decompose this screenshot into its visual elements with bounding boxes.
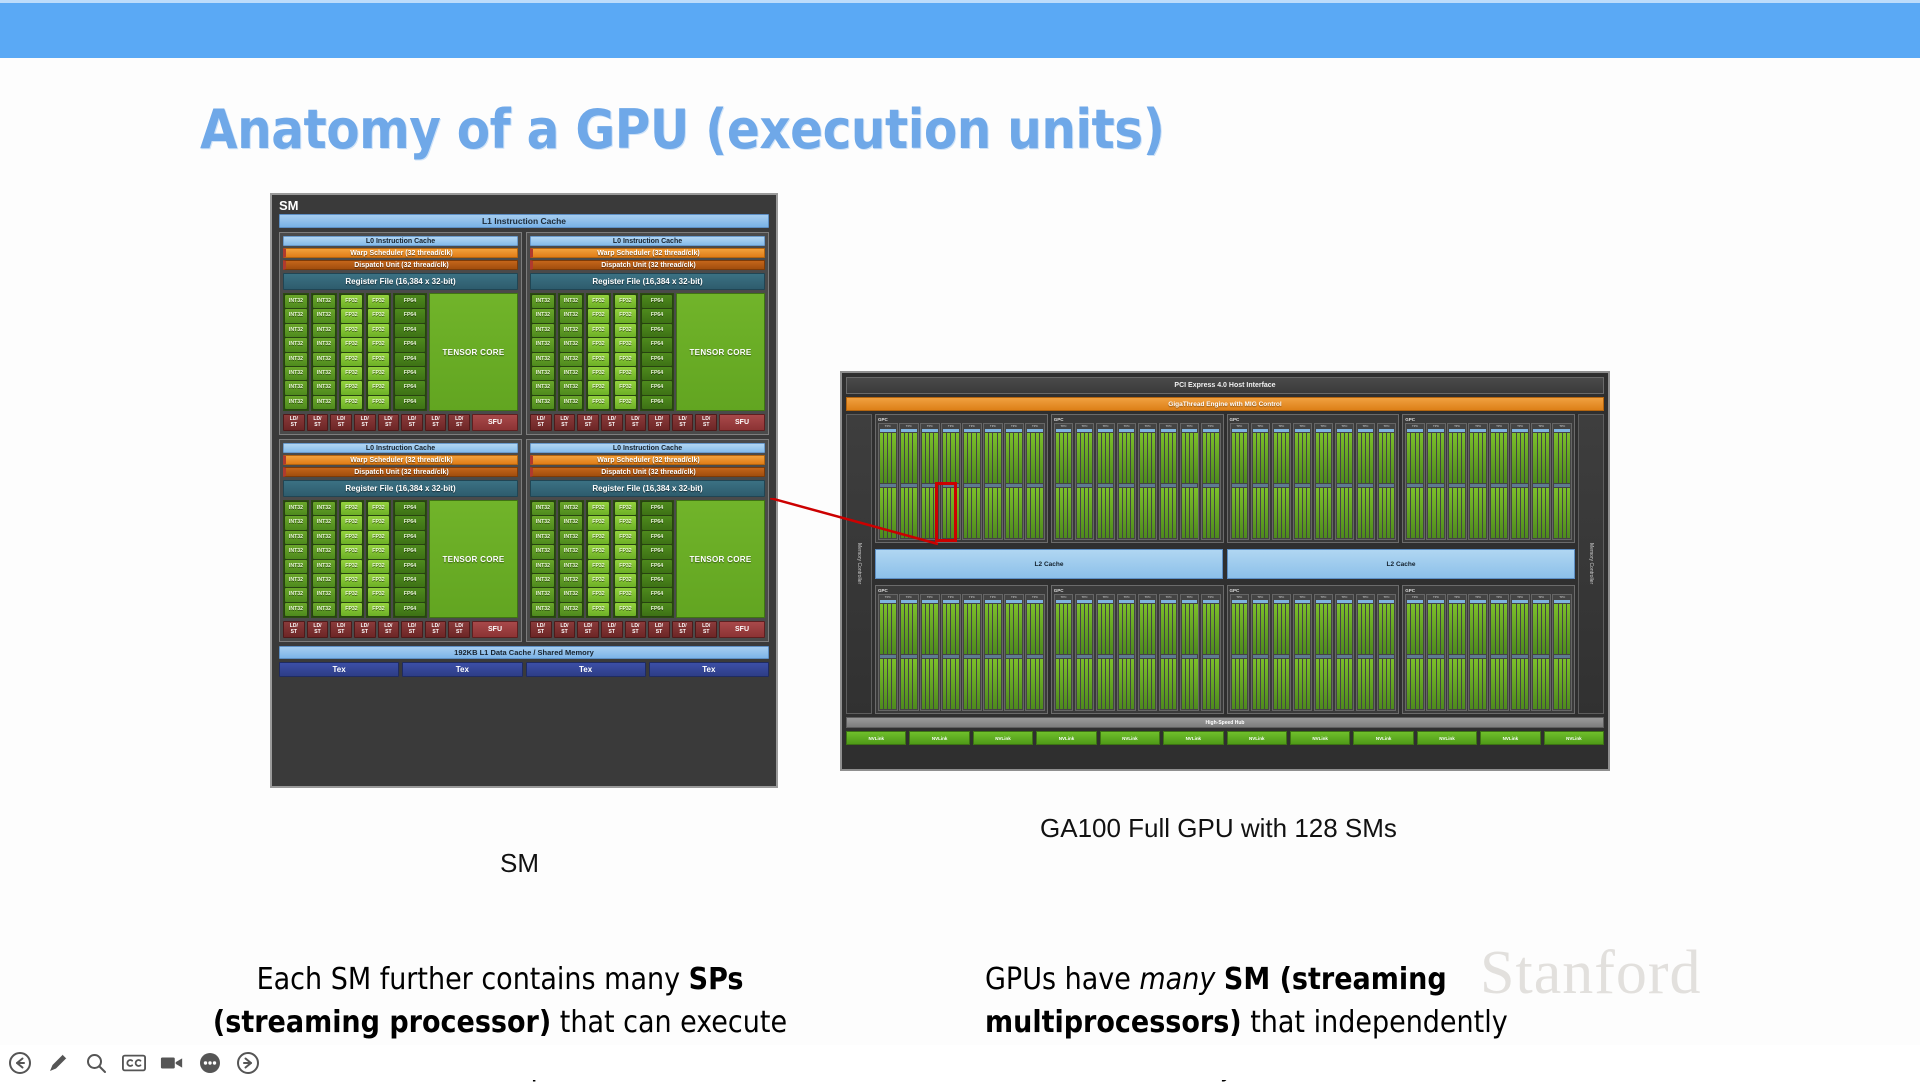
high-speed-hub-bar: High-Speed Hub <box>846 717 1604 728</box>
core-cell: FP32 <box>588 309 609 322</box>
core-cell: INT32 <box>560 338 582 351</box>
sm-separator <box>1379 484 1395 487</box>
core-cell: FP32 <box>615 367 636 380</box>
core-cell: INT32 <box>313 295 335 308</box>
tpc-divider <box>1512 429 1528 432</box>
core-cell: FP64 <box>642 531 672 544</box>
ldst-unit: LD/ST <box>307 621 329 638</box>
sm-separator <box>1161 484 1177 487</box>
sm-unit-group <box>1077 659 1093 709</box>
sm-separator <box>1512 655 1528 658</box>
tpc-label: TPC <box>1533 596 1549 599</box>
core-cell: FP64 <box>642 574 672 587</box>
sm-unit-group <box>1232 604 1248 654</box>
l2-cache-band: L2 Cache L2 Cache <box>875 549 1575 579</box>
tpc-block: TPC <box>1159 423 1179 540</box>
fp32-column: FP32FP32FP32FP32FP32FP32FP32FP32 <box>366 293 391 411</box>
tpc-label: TPC <box>1428 425 1444 428</box>
core-cell: FP64 <box>642 560 672 573</box>
tpc-row: TPCTPCTPCTPCTPCTPCTPCTPC <box>1054 423 1221 540</box>
core-cell: FP32 <box>588 531 609 544</box>
load-store-row: LD/STLD/STLD/STLD/STLD/STLD/STLD/STLD/ST… <box>530 621 765 638</box>
core-cell: FP32 <box>588 502 609 515</box>
tpc-block: TPC <box>1054 594 1074 711</box>
sm-unit-group <box>1098 488 1114 538</box>
sm-unit-group <box>1098 604 1114 654</box>
dispatch-unit-bar: Dispatch Unit (32 thread/clk) <box>283 260 518 270</box>
sm-unit-group <box>1337 433 1353 483</box>
dispatch-unit-bar: Dispatch Unit (32 thread/clk) <box>283 467 518 477</box>
sm-unit-group <box>1182 433 1198 483</box>
tpc-block: TPC <box>1293 423 1313 540</box>
sm-separator <box>901 484 917 487</box>
nvlink-block: NVLink <box>1353 731 1413 745</box>
core-cell: INT32 <box>560 545 582 558</box>
tpc-divider <box>1449 429 1465 432</box>
tpc-divider <box>1379 600 1395 603</box>
core-cell: FP32 <box>341 531 362 544</box>
tpc-divider <box>1161 600 1177 603</box>
core-cell: FP32 <box>615 338 636 351</box>
tpc-label: TPC <box>1119 596 1135 599</box>
tpc-divider <box>1358 429 1374 432</box>
sm-separator <box>1512 484 1528 487</box>
sm-unit-group <box>943 604 959 654</box>
tex-unit: Tex <box>526 662 646 677</box>
core-cell: INT32 <box>285 338 307 351</box>
core-cell: FP32 <box>341 353 362 366</box>
tpc-block: TPC <box>1405 423 1425 540</box>
closed-caption-icon[interactable] <box>122 1051 146 1075</box>
tpc-divider <box>922 600 938 603</box>
sm-unit-group <box>1006 604 1022 654</box>
sm-separator <box>1119 655 1135 658</box>
core-cell: FP32 <box>368 545 389 558</box>
sm-unit-group <box>1203 659 1219 709</box>
core-cell: INT32 <box>532 502 554 515</box>
tpc-row: TPCTPCTPCTPCTPCTPCTPCTPC <box>1230 594 1397 711</box>
core-cell: FP64 <box>642 381 672 394</box>
sfu-unit: SFU <box>472 414 518 431</box>
ldst-unit: LD/ST <box>672 414 694 431</box>
core-cell: INT32 <box>560 560 582 573</box>
sm-unit-group <box>1358 604 1374 654</box>
pen-icon[interactable] <box>46 1051 70 1075</box>
sm-separator <box>1554 655 1570 658</box>
sm-unit-group <box>901 488 917 538</box>
tpc-block: TPC <box>1025 594 1045 711</box>
tpc-block: TPC <box>1510 423 1530 540</box>
core-cell: INT32 <box>285 516 307 529</box>
tpc-label: TPC <box>1203 596 1219 599</box>
core-cell: FP64 <box>395 338 425 351</box>
sm-separator <box>1027 655 1043 658</box>
sm-separator <box>1316 484 1332 487</box>
sm-unit-group <box>1098 433 1114 483</box>
sm-unit-group <box>1232 433 1248 483</box>
sfu-unit: SFU <box>719 414 765 431</box>
sm-separator <box>1077 484 1093 487</box>
nvlink-block: NVLink <box>973 731 1033 745</box>
nvlink-block: NVLink <box>1417 731 1477 745</box>
tpc-row: TPCTPCTPCTPCTPCTPCTPCTPC <box>1405 423 1572 540</box>
sm-separator <box>1337 484 1353 487</box>
core-cell: INT32 <box>560 353 582 366</box>
tpc-divider <box>1554 429 1570 432</box>
core-cell: FP64 <box>642 588 672 601</box>
core-cell: FP32 <box>341 502 362 515</box>
tpc-label: TPC <box>1203 425 1219 428</box>
sm-unit-group <box>1274 488 1290 538</box>
ldst-unit: LD/ST <box>401 621 423 638</box>
core-cell: FP64 <box>642 309 672 322</box>
tpc-label: TPC <box>1337 425 1353 428</box>
sm-separator <box>1337 655 1353 658</box>
sm-caption: SM <box>500 848 539 879</box>
ldst-unit: LD/ST <box>448 414 470 431</box>
core-cell: FP32 <box>341 603 362 616</box>
sm-separator <box>1379 655 1395 658</box>
sm-unit-group <box>1533 659 1549 709</box>
tpc-label: TPC <box>1056 596 1072 599</box>
sm-unit-group <box>1203 604 1219 654</box>
tpc-divider <box>1119 429 1135 432</box>
sm-separator <box>964 655 980 658</box>
ldst-unit: LD/ST <box>330 621 352 638</box>
sm-unit-group <box>1006 433 1022 483</box>
gpc-label: GPC <box>1230 417 1397 422</box>
sm-unit-group <box>1161 488 1177 538</box>
sm-unit-group <box>1470 604 1486 654</box>
tpc-block: TPC <box>1096 594 1116 711</box>
ldst-unit: LD/ST <box>448 621 470 638</box>
core-cell: FP32 <box>341 309 362 322</box>
fp32-column: FP32FP32FP32FP32FP32FP32FP32FP32 <box>613 293 638 411</box>
ldst-unit: LD/ST <box>354 414 376 431</box>
int32-column: INT32INT32INT32INT32INT32INT32INT32INT32 <box>558 500 584 618</box>
core-cell: FP32 <box>368 309 389 322</box>
sm-unit-group <box>1253 659 1269 709</box>
core-cell: FP64 <box>395 560 425 573</box>
core-cell: FP32 <box>588 603 609 616</box>
tpc-label: TPC <box>1232 425 1248 428</box>
memory-controller-right: Memory Controller <box>1578 414 1604 714</box>
sm-unit-group <box>1470 659 1486 709</box>
tpc-divider <box>922 429 938 432</box>
tpc-block: TPC <box>1251 594 1271 711</box>
tex-unit: Tex <box>279 662 399 677</box>
tpc-divider <box>1098 429 1114 432</box>
ldst-unit: LD/ST <box>378 621 400 638</box>
sm-separator <box>1274 484 1290 487</box>
sm-unit-group <box>922 433 938 483</box>
sm-unit-group <box>1182 488 1198 538</box>
sm-unit-group <box>1428 433 1444 483</box>
sm-unit-group <box>1119 659 1135 709</box>
fp32-column: FP32FP32FP32FP32FP32FP32FP32FP32 <box>339 293 364 411</box>
sm-unit-group <box>901 433 917 483</box>
tpc-label: TPC <box>1274 425 1290 428</box>
core-cell: INT32 <box>313 381 335 394</box>
core-cell: INT32 <box>313 502 335 515</box>
core-cell: FP64 <box>642 353 672 366</box>
text-segment: many <box>1139 962 1215 997</box>
core-cell: FP32 <box>368 588 389 601</box>
forward-icon[interactable] <box>236 1051 260 1075</box>
sm-unit-group <box>1119 433 1135 483</box>
tpc-block: TPC <box>1272 594 1292 711</box>
sm-separator <box>1056 655 1072 658</box>
sm-separator <box>1491 484 1507 487</box>
nvlink-block: NVLink <box>1544 731 1604 745</box>
sm-unit-group <box>985 604 1001 654</box>
core-cell: FP64 <box>395 502 425 515</box>
ldst-unit: LD/ST <box>554 414 576 431</box>
fp32-column: FP32FP32FP32FP32FP32FP32FP32FP32 <box>586 500 611 618</box>
core-cell: INT32 <box>285 502 307 515</box>
core-cell: FP32 <box>341 516 362 529</box>
sm-unit-group <box>901 604 917 654</box>
text-segment: Each SM further contains many <box>257 962 689 997</box>
sm-unit-group <box>880 659 896 709</box>
tpc-label: TPC <box>1274 596 1290 599</box>
tpc-label: TPC <box>1027 596 1043 599</box>
highlighted-sm-box <box>935 482 957 542</box>
sm-unit-group <box>1491 488 1507 538</box>
tpc-divider <box>1407 429 1423 432</box>
sm-unit-group <box>1512 659 1528 709</box>
ldst-unit: LD/ST <box>554 621 576 638</box>
tpc-label: TPC <box>1407 425 1423 428</box>
tpc-block: TPC <box>1075 594 1095 711</box>
tpc-divider <box>1554 600 1570 603</box>
page-title: Anatomy of a GPU (execution units) <box>200 98 1164 161</box>
core-cell: FP32 <box>615 588 636 601</box>
core-cell: INT32 <box>532 588 554 601</box>
ldst-unit: LD/ST <box>425 414 447 431</box>
tpc-block: TPC <box>1004 423 1024 540</box>
sm-unit-group <box>880 433 896 483</box>
sm-unit-group <box>1077 433 1093 483</box>
core-cell: INT32 <box>313 560 335 573</box>
gpc-label: GPC <box>1054 588 1221 593</box>
tpc-label: TPC <box>1512 596 1528 599</box>
sm-processing-block: L0 Instruction CacheWarp Scheduler (32 t… <box>526 232 769 435</box>
int32-column: INT32INT32INT32INT32INT32INT32INT32INT32 <box>283 293 309 411</box>
tpc-block: TPC <box>983 423 1003 540</box>
sm-unit-group <box>1554 433 1570 483</box>
tpc-label: TPC <box>1379 425 1395 428</box>
sm-unit-group <box>1512 604 1528 654</box>
sm-unit-group <box>1232 659 1248 709</box>
sm-unit-group <box>1316 433 1332 483</box>
sm-separator <box>1119 484 1135 487</box>
sm-unit-group <box>1203 433 1219 483</box>
l0-instruction-cache-bar: L0 Instruction Cache <box>283 443 518 453</box>
nvlink-block: NVLink <box>1227 731 1287 745</box>
core-cell: INT32 <box>313 324 335 337</box>
sm-quadrant-row: L0 Instruction CacheWarp Scheduler (32 t… <box>279 232 769 435</box>
tpc-block: TPC <box>878 423 898 540</box>
gpc-block: GPCTPCTPCTPCTPCTPCTPCTPCTPC <box>875 414 1048 543</box>
core-cell: INT32 <box>285 574 307 587</box>
tpc-label: TPC <box>880 596 896 599</box>
core-cell: FP32 <box>588 545 609 558</box>
tpc-divider <box>1119 600 1135 603</box>
nvlink-block: NVLink <box>909 731 969 745</box>
core-cell: FP32 <box>368 502 389 515</box>
core-cell: INT32 <box>285 603 307 616</box>
sm-unit-group <box>943 659 959 709</box>
register-file-bar: Register File (16,384 x 32-bit) <box>530 480 765 497</box>
core-cell: FP32 <box>615 396 636 409</box>
tpc-label: TPC <box>1077 425 1093 428</box>
tpc-divider <box>943 429 959 432</box>
core-cell: INT32 <box>532 574 554 587</box>
tpc-block: TPC <box>1293 594 1313 711</box>
tpc-label: TPC <box>1140 596 1156 599</box>
back-icon[interactable] <box>8 1051 32 1075</box>
fp64-column: FP64FP64FP64FP64FP64FP64FP64FP64 <box>393 500 427 618</box>
core-cell: FP32 <box>368 338 389 351</box>
core-cell: FP64 <box>395 295 425 308</box>
int32-column: INT32INT32INT32INT32INT32INT32INT32INT32 <box>311 500 337 618</box>
gpc-label: GPC <box>1405 588 1572 593</box>
gpu-caption: GA100 Full GPU with 128 SMs <box>1040 813 1397 844</box>
sm-separator <box>1056 484 1072 487</box>
sm-separator <box>1449 484 1465 487</box>
core-cell: FP32 <box>368 603 389 616</box>
core-cell: INT32 <box>313 353 335 366</box>
core-cell: INT32 <box>313 588 335 601</box>
nvlink-block: NVLink <box>1036 731 1096 745</box>
core-cell: INT32 <box>532 295 554 308</box>
core-cell: FP32 <box>341 396 362 409</box>
ldst-unit: LD/ST <box>601 414 623 431</box>
player-toolbar <box>0 1045 1920 1080</box>
tpc-block: TPC <box>1138 594 1158 711</box>
tpc-divider <box>1491 600 1507 603</box>
register-file-bar: Register File (16,384 x 32-bit) <box>283 273 518 290</box>
tpc-label: TPC <box>1512 425 1528 428</box>
l1-data-cache-bar: 192KB L1 Data Cache / Shared Memory <box>279 646 769 659</box>
sm-unit-group <box>1056 433 1072 483</box>
sm-separator <box>1182 655 1198 658</box>
more-icon[interactable] <box>198 1051 222 1075</box>
l0-instruction-cache-bar: L0 Instruction Cache <box>530 236 765 246</box>
tpc-divider <box>1337 600 1353 603</box>
tpc-label: TPC <box>1098 596 1114 599</box>
sm-unit-group <box>1274 604 1290 654</box>
sm-separator <box>1533 484 1549 487</box>
tpc-divider <box>985 429 1001 432</box>
ldst-unit: LD/ST <box>283 621 305 638</box>
tpc-divider <box>1512 600 1528 603</box>
sm-unit-group <box>1554 604 1570 654</box>
tpc-divider <box>964 429 980 432</box>
tpc-block: TPC <box>1377 594 1397 711</box>
tpc-block: TPC <box>962 594 982 711</box>
sm-separator <box>1428 484 1444 487</box>
core-cell: FP32 <box>341 367 362 380</box>
tpc-block: TPC <box>1075 423 1095 540</box>
tpc-label: TPC <box>1006 596 1022 599</box>
tpc-block: TPC <box>1201 594 1221 711</box>
core-cell: FP64 <box>395 545 425 558</box>
gpc-label: GPC <box>1054 417 1221 422</box>
tpc-block: TPC <box>899 594 919 711</box>
ldst-unit: LD/ST <box>625 414 647 431</box>
sm-unit-group <box>985 433 1001 483</box>
video-icon[interactable] <box>160 1051 184 1075</box>
sm-diagram-label: SM <box>275 198 773 214</box>
sm-unit-group <box>1119 604 1135 654</box>
sm-separator <box>1533 655 1549 658</box>
sm-unit-group <box>1056 659 1072 709</box>
tpc-label: TPC <box>1470 596 1486 599</box>
sm-separator <box>1407 484 1423 487</box>
tpc-block: TPC <box>941 594 961 711</box>
tpc-block: TPC <box>1159 594 1179 711</box>
sm-unit-group <box>1232 488 1248 538</box>
gpc-label: GPC <box>1230 588 1397 593</box>
search-icon[interactable] <box>84 1051 108 1075</box>
core-cell: FP32 <box>615 295 636 308</box>
tpc-label: TPC <box>1295 596 1311 599</box>
sm-unit-group <box>1006 488 1022 538</box>
tpc-block: TPC <box>962 423 982 540</box>
tpc-divider <box>1274 600 1290 603</box>
tpc-divider <box>1533 600 1549 603</box>
core-cell: INT32 <box>285 295 307 308</box>
ldst-unit: LD/ST <box>695 414 717 431</box>
core-cell: FP64 <box>642 295 672 308</box>
core-array: INT32INT32INT32INT32INT32INT32INT32INT32… <box>283 500 518 618</box>
sm-unit-group <box>1140 433 1156 483</box>
sm-unit-group <box>1316 604 1332 654</box>
tpc-label: TPC <box>964 596 980 599</box>
core-cell: INT32 <box>560 396 582 409</box>
core-cell: INT32 <box>285 309 307 322</box>
warp-scheduler-bar: Warp Scheduler (32 thread/clk) <box>530 455 765 465</box>
tpc-divider <box>901 429 917 432</box>
core-cell: FP64 <box>395 396 425 409</box>
core-cell: INT32 <box>532 560 554 573</box>
sm-unit-group <box>1203 488 1219 538</box>
core-cell: FP64 <box>395 324 425 337</box>
tpc-block: TPC <box>1230 423 1250 540</box>
sm-separator <box>1203 484 1219 487</box>
core-cell: INT32 <box>532 309 554 322</box>
core-cell: INT32 <box>285 324 307 337</box>
sm-unit-group <box>1358 488 1374 538</box>
tpc-divider <box>1027 429 1043 432</box>
core-cell: FP32 <box>615 545 636 558</box>
sm-unit-group <box>1027 488 1043 538</box>
ldst-unit: LD/ST <box>648 414 670 431</box>
sm-separator <box>1182 484 1198 487</box>
sm-separator <box>1027 484 1043 487</box>
tpc-block: TPC <box>1096 423 1116 540</box>
tpc-divider <box>1316 429 1332 432</box>
sm-separator <box>1358 484 1374 487</box>
ldst-unit: LD/ST <box>425 621 447 638</box>
nvlink-block: NVLink <box>1100 731 1160 745</box>
int32-column: INT32INT32INT32INT32INT32INT32INT32INT32 <box>530 500 556 618</box>
sm-unit-group <box>880 604 896 654</box>
tpc-block: TPC <box>1272 423 1292 540</box>
l0-instruction-cache-bar: L0 Instruction Cache <box>530 443 765 453</box>
